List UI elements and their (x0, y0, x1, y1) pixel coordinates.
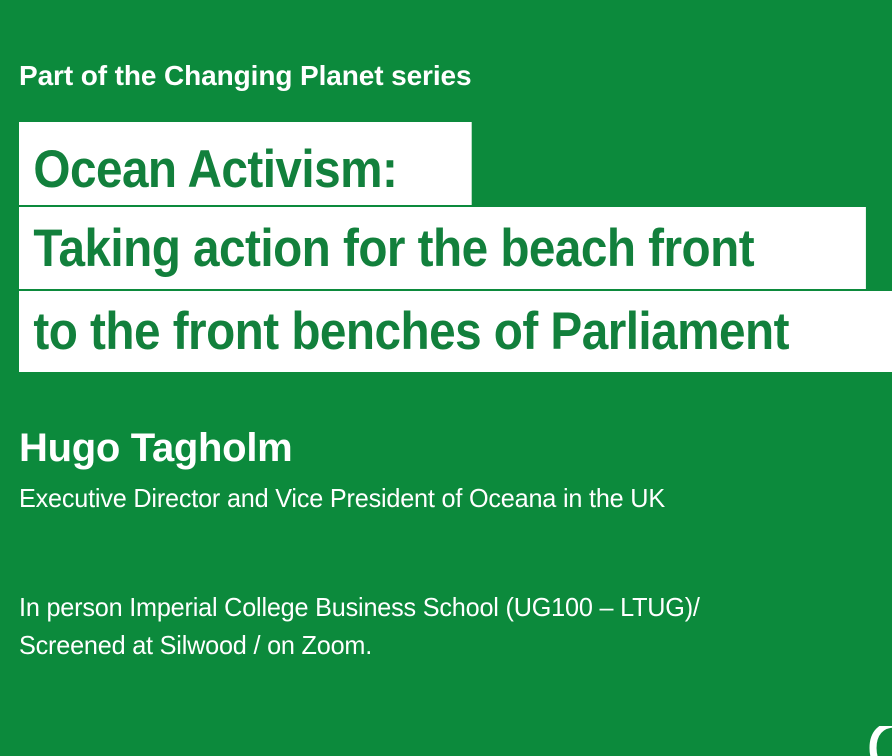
title-line-3: to the front benches of Parliament (19, 291, 892, 372)
venue-details: In person Imperial College Business Scho… (19, 588, 700, 664)
oceana-logo-glyph: O (866, 726, 892, 756)
venue-line-screened: Screened at Silwood / on Zoom. (19, 626, 700, 664)
speaker-role: Executive Director and Vice President of… (19, 485, 665, 511)
event-title: Ocean Activism: Taking action for the be… (19, 122, 892, 372)
oceana-logo-partial: O (866, 726, 892, 756)
title-line-2-text: Taking action for the beach front (19, 222, 769, 275)
event-slide: Part of the Changing Planet series Ocean… (0, 0, 892, 756)
title-line-1: Ocean Activism: (19, 122, 472, 205)
speaker-name: Hugo Tagholm (19, 428, 292, 468)
venue-line-in-person: In person Imperial College Business Scho… (19, 588, 700, 626)
title-line-2: Taking action for the beach front (19, 207, 866, 289)
title-line-3-text: to the front benches of Parliament (19, 305, 803, 358)
title-line-1-text: Ocean Activism: (19, 143, 412, 196)
series-kicker: Part of the Changing Planet series (19, 62, 471, 90)
